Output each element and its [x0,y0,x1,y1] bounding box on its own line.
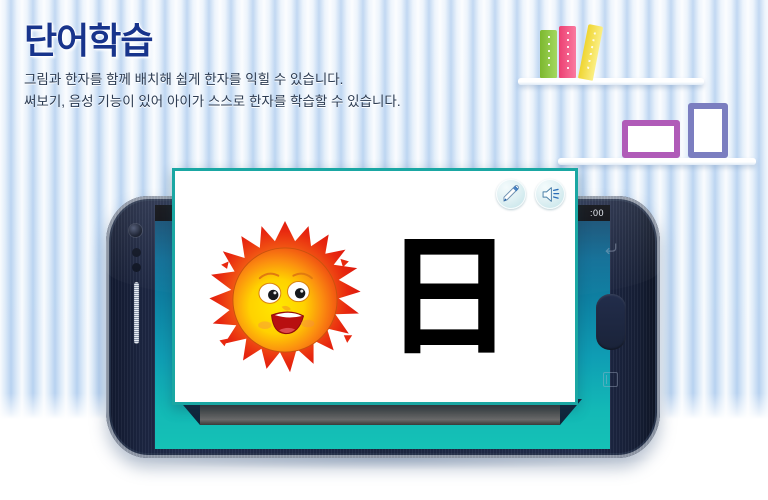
sun-cheek-right [301,319,314,327]
page-title: 단어학습 [24,18,494,63]
back-key-icon[interactable] [604,240,618,254]
shelf-top [518,78,704,85]
flashcard: 日 [172,168,578,405]
earpiece-speaker [134,282,139,344]
subtitle-line-2: 써보기, 음성 기능이 있어 아이가 스스로 한자를 학습할 수 있습니다. [24,91,494,113]
sun-illustration [201,216,369,384]
flashcard-toolbar [496,179,565,209]
hanzi-character: 日 [385,234,513,362]
light-sensor-icon [132,263,141,272]
sun-svg [201,216,369,384]
sun-face [233,247,337,351]
book-yellow-lines [586,32,595,70]
menu-key-icon[interactable] [603,372,618,387]
pencil-icon [501,184,521,204]
book-pink-lines [567,32,569,68]
proximity-sensor-icon [132,248,141,257]
sun-cheek-left [258,321,271,329]
subtitle-line-1: 그림과 한자를 함께 배치해 쉽게 한자를 익힐 수 있습니다. [24,69,494,91]
write-tool-button[interactable] [496,179,526,209]
speaker-icon [540,184,561,205]
book-green-lines [548,36,550,70]
shelf-bottom [558,158,756,165]
header-block: 단어학습 그림과 한자를 함께 배치해 쉽게 한자를 익힐 수 있습니다. 써보… [24,18,494,114]
book-pink [559,26,576,78]
frame-landscape [622,120,680,158]
home-button[interactable] [596,294,626,350]
book-yellow [578,24,603,81]
picture-frames-group [622,98,742,158]
front-camera-icon [129,224,142,237]
frame-portrait [688,103,728,158]
sound-tool-button[interactable] [535,179,565,209]
book-green [540,30,557,78]
flashcard-content: 日 [175,207,575,392]
books-group [540,20,620,78]
promo-banner: 단어학습 그림과 한자를 함께 배치해 쉽게 한자를 익힐 수 있습니다. 써보… [0,0,768,500]
